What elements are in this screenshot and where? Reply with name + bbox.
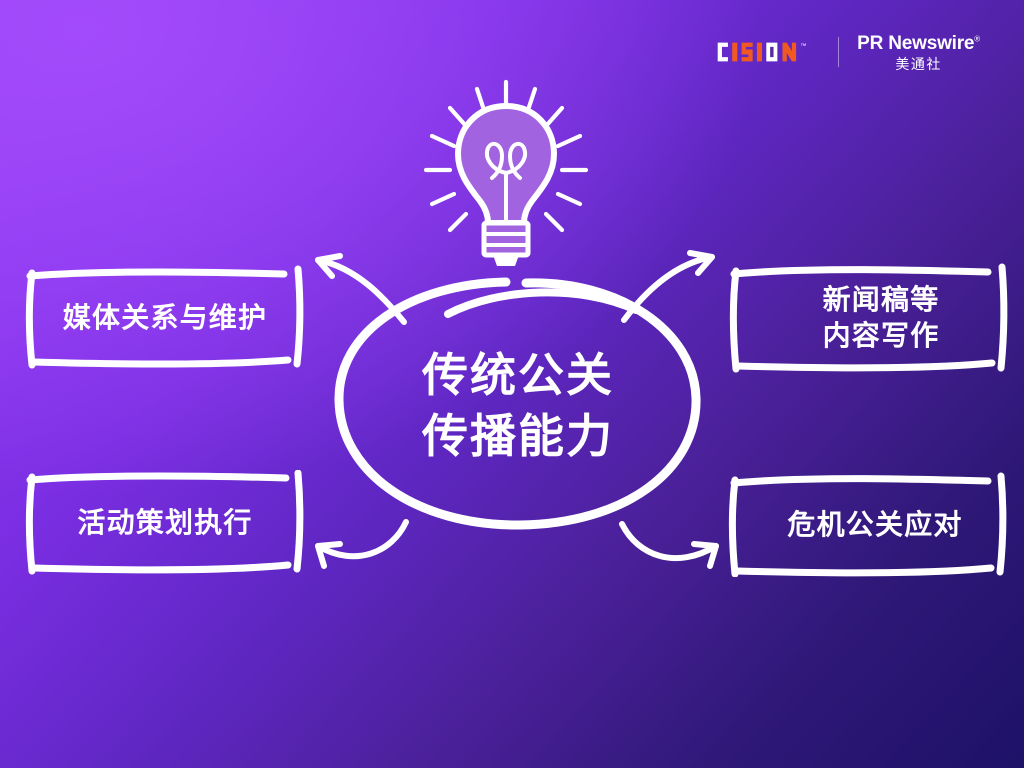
- node-crisis-pr[interactable]: 危机公关应对: [718, 472, 1010, 577]
- node-label-line: 内容写作: [823, 318, 940, 354]
- node-label-line: 新闻稿等: [823, 282, 940, 318]
- center-label-line-2: 传播能力: [422, 406, 614, 467]
- center-label-line-1: 传统公关: [422, 345, 614, 406]
- node-media-relations[interactable]: 媒体关系与维护: [16, 265, 308, 370]
- node-media-relations-label: 媒体关系与维护: [57, 300, 267, 336]
- registered-mark: ®: [974, 34, 980, 43]
- cision-logo: ™: [716, 39, 820, 65]
- node-crisis-pr-label: 危机公关应对: [765, 507, 962, 543]
- node-content-writing-label: 新闻稿等 内容写作: [789, 282, 940, 354]
- node-event-planning[interactable]: 活动策划执行: [16, 470, 308, 575]
- svg-text:™: ™: [801, 43, 807, 50]
- node-content-writing[interactable]: 新闻稿等 内容写作: [718, 262, 1010, 374]
- center-node-label: 传统公关 传播能力: [330, 272, 706, 536]
- node-event-planning-label: 活动策划执行: [71, 505, 252, 541]
- brand-divider: [838, 37, 839, 67]
- brand-bar: ™ PR Newswire® 美通社: [716, 30, 980, 74]
- node-label-line: 危机公关应对: [787, 507, 962, 543]
- pr-newswire-text: PR Newswire: [857, 33, 974, 54]
- pr-newswire-chinese: 美通社: [895, 57, 942, 71]
- node-label-line: 活动策划执行: [77, 505, 252, 541]
- lightbulb-icon: [414, 78, 599, 268]
- slide-canvas: ™ PR Newswire® 美通社: [0, 0, 1024, 768]
- pr-newswire-wordmark: PR Newswire®: [857, 34, 980, 53]
- pr-newswire-logo: PR Newswire® 美通社: [857, 34, 980, 71]
- center-node: 传统公关 传播能力: [330, 272, 706, 536]
- node-label-line: 媒体关系与维护: [63, 300, 267, 336]
